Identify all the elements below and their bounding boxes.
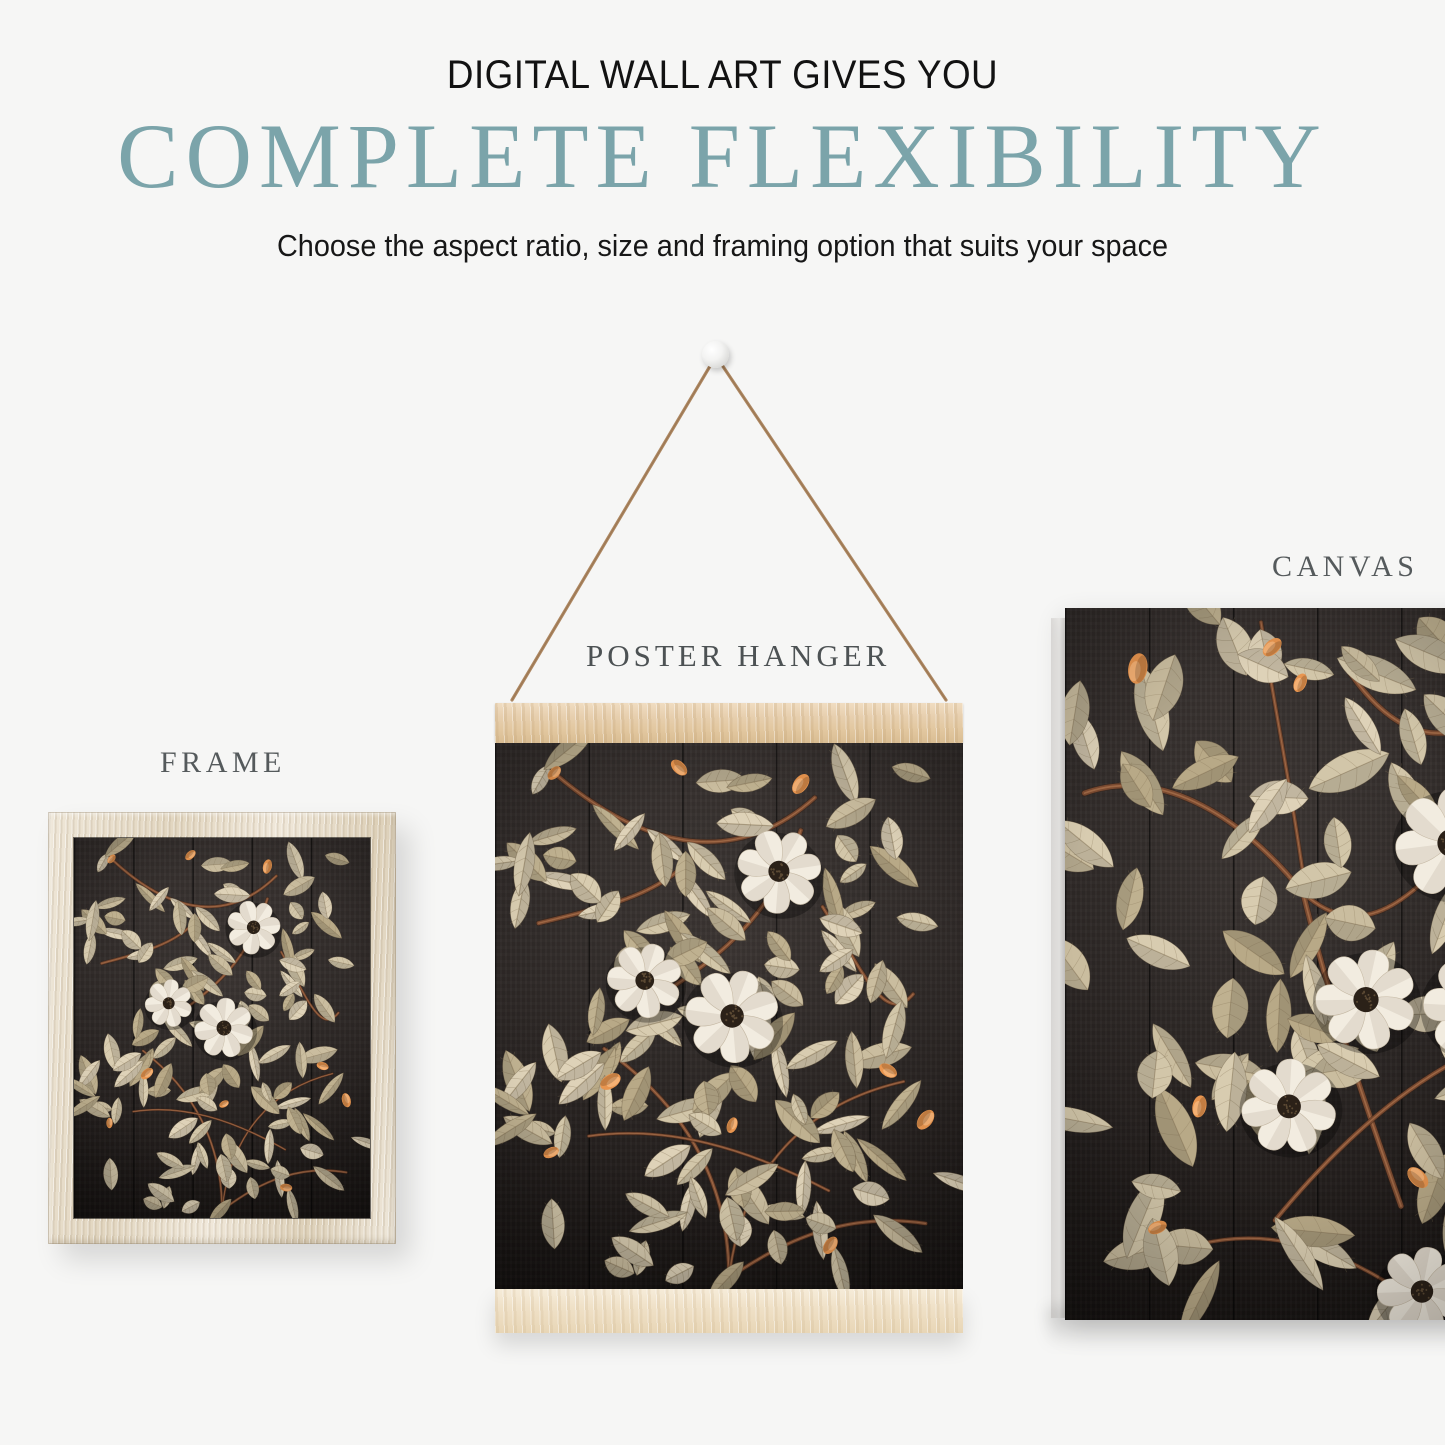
floral-illustration	[495, 743, 963, 1289]
hanger-bar-top	[495, 703, 963, 743]
floral-illustration	[74, 838, 370, 1218]
framed-print[interactable]	[48, 812, 396, 1244]
label-canvas: CANVAS	[1272, 550, 1419, 584]
floral-illustration	[1065, 608, 1445, 1320]
artwork-canvas	[1065, 608, 1445, 1320]
hanger-bar-bottom	[495, 1289, 963, 1333]
poster-hanger-print[interactable]	[495, 703, 963, 1333]
header-subtitle: Choose the aspect ratio, size and framin…	[51, 228, 1395, 264]
header-block: DIGITAL WALL ART GIVES YOU COMPLETE FLEX…	[0, 54, 1445, 264]
header-eyebrow: DIGITAL WALL ART GIVES YOU	[58, 54, 1387, 96]
label-poster-hanger: POSTER HANGER	[586, 638, 890, 674]
canvas-print[interactable]	[1065, 608, 1445, 1320]
canvas-gallery-wrap-edge	[1051, 618, 1066, 1318]
artwork-frame	[74, 838, 370, 1218]
label-frame: FRAME	[160, 746, 286, 780]
artwork-poster	[495, 743, 963, 1289]
page-title: COMPLETE FLEXIBILITY	[0, 110, 1445, 202]
wall-nail-icon	[702, 341, 729, 368]
poster-mockup-canvas: DIGITAL WALL ART GIVES YOU COMPLETE FLEX…	[0, 0, 1445, 1445]
